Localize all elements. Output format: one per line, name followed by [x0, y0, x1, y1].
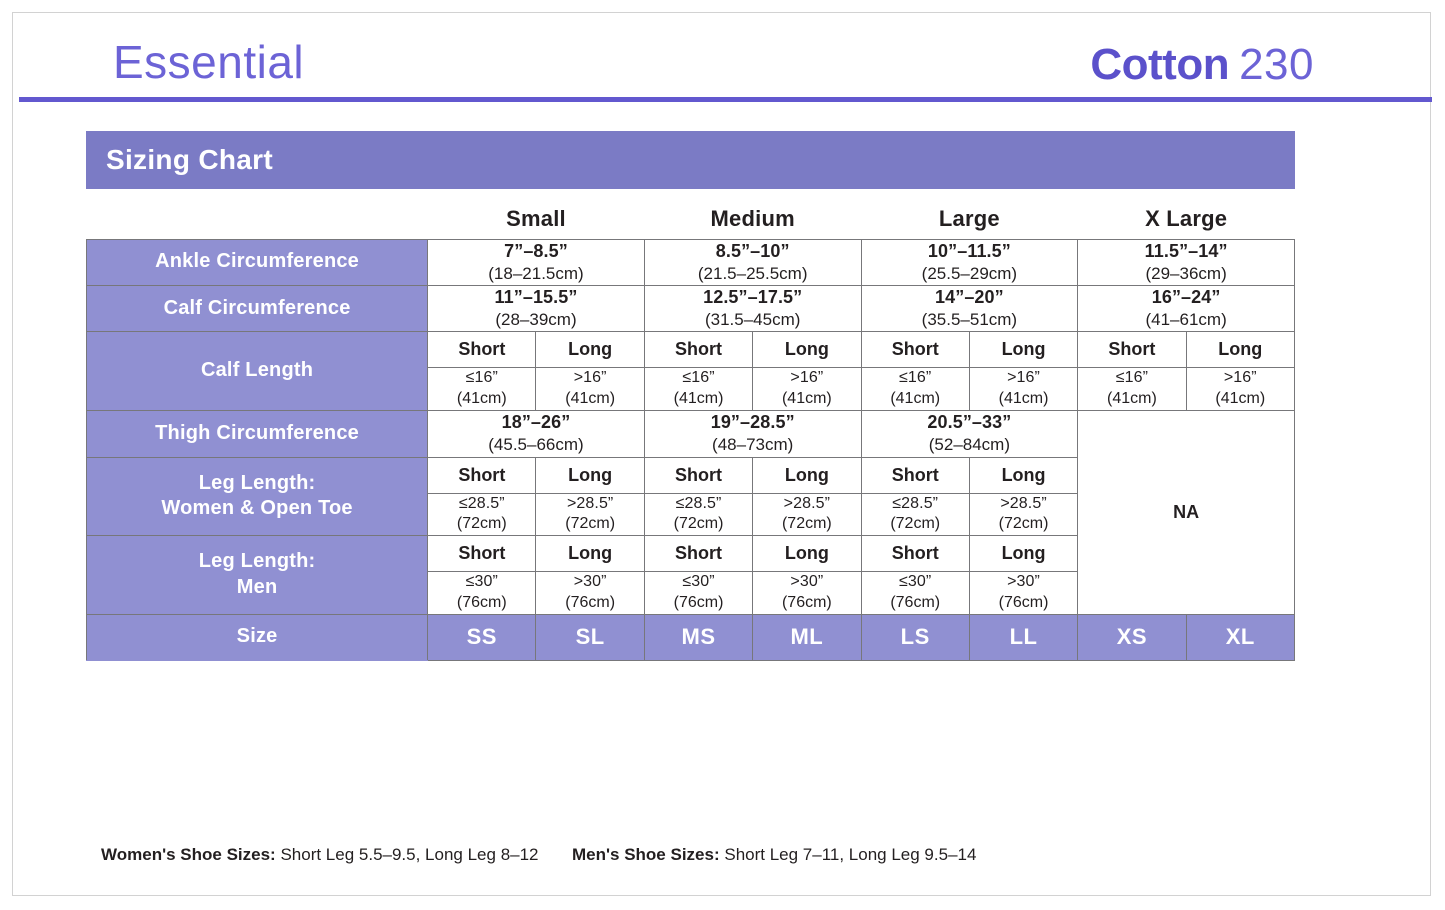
cell-value-cm: (76cm): [862, 593, 969, 614]
cell-value-cm: (76cm): [970, 593, 1077, 614]
cell-value-cm: (31.5–45cm): [645, 309, 861, 331]
cell-value-cm: (76cm): [645, 593, 752, 614]
size-code-ms: MS: [644, 614, 752, 660]
cell-value-inches: ≤30”: [428, 572, 535, 593]
subhead-calf-length-0: Short: [428, 332, 536, 368]
subhead-calf-length-3: Long: [753, 332, 861, 368]
cell-value-inches: 14”–20”: [862, 286, 1078, 309]
subhead-calf-length-7: Long: [1186, 332, 1294, 368]
cell-value-cm: (76cm): [536, 593, 643, 614]
size-code-sl: SL: [536, 614, 644, 660]
mens-shoe-sizes-label: Men's Shoe Sizes:: [572, 845, 720, 864]
size-code-ls: LS: [861, 614, 969, 660]
row-label-line-1: Leg Length:: [199, 550, 316, 572]
cell-value-cm: (76cm): [428, 593, 535, 614]
sizing-table: Small Medium Large X Large Ankle Circumf…: [86, 199, 1295, 661]
table-row-ankle-circumference: Ankle Circumference 7”–8.5” (18–21.5cm) …: [87, 239, 1295, 285]
product-name: Cotton: [1090, 40, 1229, 89]
cell-value-cm: (41cm): [862, 389, 969, 410]
cell-calf-length-3: >16” (41cm): [753, 368, 861, 411]
cell-value-cm: (25.5–29cm): [862, 263, 1078, 285]
cell-thigh-small: 18”–26” (45.5–66cm): [428, 411, 645, 457]
subhead-leg-men-1: Long: [536, 536, 644, 572]
cell-value-inches: >28.5”: [536, 494, 643, 515]
product-number: 230: [1239, 40, 1314, 89]
cell-value-cm: (21.5–25.5cm): [645, 263, 861, 285]
cell-value-inches: 11.5”–14”: [1078, 240, 1294, 263]
cell-calf-length-7: >16” (41cm): [1186, 368, 1294, 411]
cell-calf-length-1: >16” (41cm): [536, 368, 644, 411]
subhead-leg-men-3: Long: [753, 536, 861, 572]
cell-value-cm: (18–21.5cm): [428, 263, 644, 285]
group-header-medium: Medium: [644, 199, 861, 239]
cell-calf-circ-large: 14”–20” (35.5–51cm): [861, 285, 1078, 331]
cell-value-inches: ≤28.5”: [645, 494, 752, 515]
cell-value-inches: >28.5”: [753, 494, 860, 515]
cell-leg-men-2: ≤30” (76cm): [644, 572, 752, 615]
cell-value-cm: (41cm): [1187, 389, 1294, 410]
cell-value-inches: >16”: [1187, 368, 1294, 389]
row-label-size: Size: [87, 614, 428, 660]
cell-value-inches: 10”–11.5”: [862, 240, 1078, 263]
cell-value-inches: ≤16”: [1078, 368, 1185, 389]
brand-right-title: Cotton230: [1090, 43, 1314, 87]
cell-value-inches: >30”: [753, 572, 860, 593]
cell-leg-men-5: >30” (76cm): [969, 572, 1077, 615]
cell-ankle-medium: 8.5”–10” (21.5–25.5cm): [644, 239, 861, 285]
cell-thigh-medium: 19”–28.5” (48–73cm): [644, 411, 861, 457]
cell-value-cm: (72cm): [428, 514, 535, 535]
group-header-row: Small Medium Large X Large: [87, 199, 1295, 239]
cell-thigh-large: 20.5”–33” (52–84cm): [861, 411, 1078, 457]
cell-value-cm: (41–61cm): [1078, 309, 1294, 331]
row-label-ankle-circumference: Ankle Circumference: [87, 239, 428, 285]
table-row-thigh-circumference: Thigh Circumference 18”–26” (45.5–66cm) …: [87, 411, 1295, 457]
cell-leg-men-4: ≤30” (76cm): [861, 572, 969, 615]
cell-leg-women-2: ≤28.5” (72cm): [644, 493, 752, 536]
cell-calf-length-2: ≤16” (41cm): [644, 368, 752, 411]
brand-left-title: Essential: [113, 39, 304, 85]
size-code-ml: ML: [753, 614, 861, 660]
cell-ankle-xlarge: 11.5”–14” (29–36cm): [1078, 239, 1295, 285]
cell-value-inches: 18”–26”: [428, 411, 644, 434]
shoe-size-footnote: Women's Shoe Sizes: Short Leg 5.5–9.5, L…: [101, 845, 976, 865]
cell-ankle-small: 7”–8.5” (18–21.5cm): [428, 239, 645, 285]
cell-calf-circ-xlarge: 16”–24” (41–61cm): [1078, 285, 1295, 331]
cell-calf-length-6: ≤16” (41cm): [1078, 368, 1186, 411]
cell-value-cm: (72cm): [753, 514, 860, 535]
cell-value-cm: (41cm): [753, 389, 860, 410]
subhead-leg-women-3: Long: [753, 457, 861, 493]
subhead-leg-men-2: Short: [644, 536, 752, 572]
cell-value-inches: 12.5”–17.5”: [645, 286, 861, 309]
cell-value-inches: >16”: [536, 368, 643, 389]
subhead-leg-men-5: Long: [969, 536, 1077, 572]
cell-leg-women-0: ≤28.5” (72cm): [428, 493, 536, 536]
row-label-line-2: Men: [237, 576, 278, 598]
cell-value-cm: (41cm): [970, 389, 1077, 410]
cell-value-inches: ≤28.5”: [862, 494, 969, 515]
row-label-thigh-circumference: Thigh Circumference: [87, 411, 428, 457]
subhead-calf-length-6: Short: [1078, 332, 1186, 368]
cell-calf-length-0: ≤16” (41cm): [428, 368, 536, 411]
cell-calf-circ-small: 11”–15.5” (28–39cm): [428, 285, 645, 331]
cell-value-inches: >28.5”: [970, 494, 1077, 515]
cell-value-cm: (52–84cm): [862, 434, 1078, 456]
table-row-size: Size SS SL MS ML LS LL XS XL: [87, 614, 1295, 660]
cell-value-inches: 16”–24”: [1078, 286, 1294, 309]
group-header-xlarge: X Large: [1078, 199, 1295, 239]
cell-leg-men-1: >30” (76cm): [536, 572, 644, 615]
mens-shoe-sizes-value: Short Leg 7–11, Long Leg 9.5–14: [724, 845, 976, 864]
page-title: Sizing Chart: [106, 144, 273, 176]
cell-value-inches: >16”: [970, 368, 1077, 389]
table-row-calf-length-subhead: Calf Length Short Long Short Long Short …: [87, 332, 1295, 368]
subhead-calf-length-2: Short: [644, 332, 752, 368]
subhead-leg-women-1: Long: [536, 457, 644, 493]
row-label-leg-length-men: Leg Length: Men: [87, 536, 428, 615]
cell-value-cm: (41cm): [428, 389, 535, 410]
cell-value-inches: ≤16”: [645, 368, 752, 389]
subhead-leg-women-2: Short: [644, 457, 752, 493]
cell-leg-women-5: >28.5” (72cm): [969, 493, 1077, 536]
table-row-calf-circumference: Calf Circumference 11”–15.5” (28–39cm) 1…: [87, 285, 1295, 331]
cell-calf-circ-medium: 12.5”–17.5” (31.5–45cm): [644, 285, 861, 331]
brand-divider-rule: [19, 97, 1432, 102]
subhead-leg-women-4: Short: [861, 457, 969, 493]
cell-value-inches: ≤30”: [862, 572, 969, 593]
cell-value-cm: (72cm): [536, 514, 643, 535]
cell-value-inches: ≤16”: [428, 368, 535, 389]
brand-header: Essential Cotton230: [13, 13, 1430, 99]
cell-xlarge-not-applicable: NA: [1078, 411, 1295, 615]
subhead-leg-men-0: Short: [428, 536, 536, 572]
size-code-xs: XS: [1078, 614, 1186, 660]
row-label-leg-length-women: Leg Length: Women & Open Toe: [87, 457, 428, 536]
subhead-calf-length-1: Long: [536, 332, 644, 368]
group-header-large: Large: [861, 199, 1078, 239]
cell-value-cm: (29–36cm): [1078, 263, 1294, 285]
cell-value-inches: ≤28.5”: [428, 494, 535, 515]
cell-value-inches: 19”–28.5”: [645, 411, 861, 434]
page-container: Essential Cotton230 Sizing Chart Small M…: [12, 12, 1431, 896]
subhead-calf-length-5: Long: [969, 332, 1077, 368]
size-code-xl: XL: [1186, 614, 1294, 660]
group-header-spacer: [87, 199, 428, 239]
cell-value-cm: (28–39cm): [428, 309, 644, 331]
subhead-leg-women-5: Long: [969, 457, 1077, 493]
cell-value-inches: >30”: [970, 572, 1077, 593]
cell-value-inches: 8.5”–10”: [645, 240, 861, 263]
group-header-small: Small: [428, 199, 645, 239]
cell-value-cm: (45.5–66cm): [428, 434, 644, 456]
cell-leg-women-1: >28.5” (72cm): [536, 493, 644, 536]
cell-value-cm: (72cm): [645, 514, 752, 535]
cell-value-cm: (35.5–51cm): [862, 309, 1078, 331]
cell-leg-men-3: >30” (76cm): [753, 572, 861, 615]
subhead-leg-women-0: Short: [428, 457, 536, 493]
cell-value-cm: (41cm): [645, 389, 752, 410]
cell-leg-men-0: ≤30” (76cm): [428, 572, 536, 615]
cell-calf-length-4: ≤16” (41cm): [861, 368, 969, 411]
cell-leg-women-4: ≤28.5” (72cm): [861, 493, 969, 536]
cell-value-inches: >30”: [536, 572, 643, 593]
womens-shoe-sizes-label: Women's Shoe Sizes:: [101, 845, 276, 864]
cell-value-cm: (48–73cm): [645, 434, 861, 456]
cell-value-inches: 7”–8.5”: [428, 240, 644, 263]
row-label-line-1: Leg Length:: [199, 472, 316, 494]
cell-calf-length-5: >16” (41cm): [969, 368, 1077, 411]
cell-ankle-large: 10”–11.5” (25.5–29cm): [861, 239, 1078, 285]
cell-value-inches: ≤16”: [862, 368, 969, 389]
cell-leg-women-3: >28.5” (72cm): [753, 493, 861, 536]
cell-value-cm: (41cm): [536, 389, 643, 410]
cell-value-inches: 20.5”–33”: [862, 411, 1078, 434]
subhead-calf-length-4: Short: [861, 332, 969, 368]
sizing-table-wrapper: Small Medium Large X Large Ankle Circumf…: [86, 199, 1295, 661]
cell-value-inches: >16”: [753, 368, 860, 389]
sizing-chart-title-bar: Sizing Chart: [86, 131, 1295, 189]
row-label-line-2: Women & Open Toe: [161, 497, 352, 519]
cell-value-inches: 11”–15.5”: [428, 286, 644, 309]
row-label-calf-length: Calf Length: [87, 332, 428, 411]
size-code-ll: LL: [969, 614, 1077, 660]
cell-value-cm: (72cm): [970, 514, 1077, 535]
cell-value-cm: (72cm): [862, 514, 969, 535]
subhead-leg-men-4: Short: [861, 536, 969, 572]
row-label-calf-circumference: Calf Circumference: [87, 285, 428, 331]
womens-shoe-sizes-value: Short Leg 5.5–9.5, Long Leg 8–12: [280, 845, 538, 864]
cell-value-cm: (41cm): [1078, 389, 1185, 410]
cell-value-cm: (76cm): [753, 593, 860, 614]
cell-value-inches: ≤30”: [645, 572, 752, 593]
size-code-ss: SS: [428, 614, 536, 660]
